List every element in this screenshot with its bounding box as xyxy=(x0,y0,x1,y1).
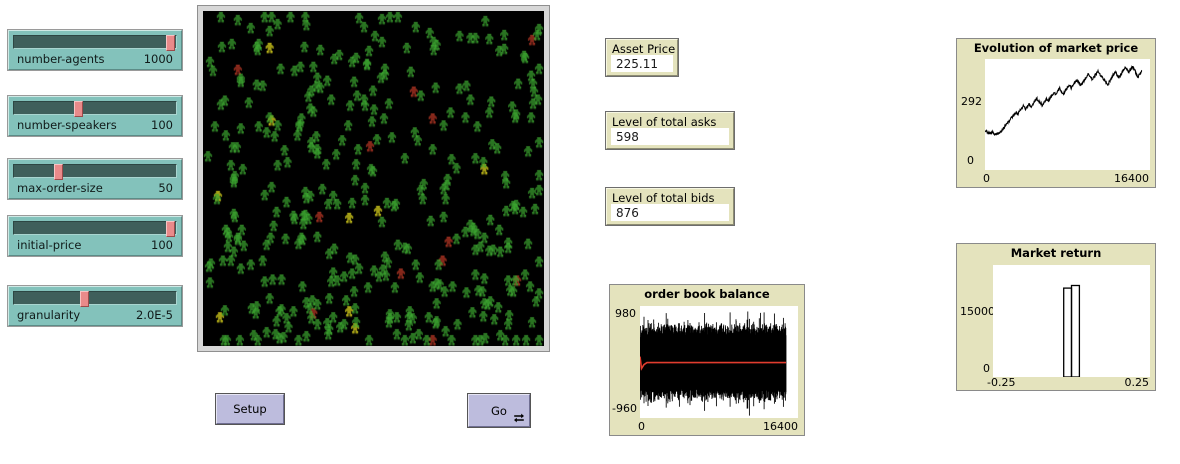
evolution-of-market-price-plot: Evolution of market price 292 0 0 16400 xyxy=(956,38,1156,188)
slider-thumb[interactable] xyxy=(54,164,63,180)
monitor-value-box: 225.11 xyxy=(611,55,673,72)
slider-value: 2.0E-5 xyxy=(136,308,173,322)
x-axis-min-label: 0 xyxy=(983,172,990,185)
slider-granularity[interactable]: granularity 2.0E-5 xyxy=(8,286,182,326)
monitor-label: Level of total asks xyxy=(612,115,716,129)
slider-label: initial-price xyxy=(17,238,81,252)
slider-track[interactable] xyxy=(13,101,177,115)
slider-max-order-size[interactable]: max-order-size 50 xyxy=(8,159,182,199)
forever-loop-icon xyxy=(513,412,525,424)
plot-title: Market return xyxy=(957,246,1155,260)
y-axis-min-label: 0 xyxy=(967,154,974,167)
y-axis-min-label: 0 xyxy=(983,362,990,375)
plot-title: order book balance xyxy=(610,287,804,301)
balance-line-chart xyxy=(640,306,798,418)
slider-thumb[interactable] xyxy=(74,101,83,117)
slider-initial-price[interactable]: initial-price 100 xyxy=(8,216,182,256)
plot-area xyxy=(640,306,798,418)
slider-value: 100 xyxy=(151,118,173,132)
x-axis-min-label: 0 xyxy=(638,420,645,433)
y-axis-max-label: 15000 xyxy=(960,305,995,318)
slider-track[interactable] xyxy=(13,221,177,235)
slider-label: max-order-size xyxy=(17,181,103,195)
slider-thumb[interactable] xyxy=(166,35,175,51)
total-asks-monitor: Level of total asks 598 xyxy=(606,112,734,149)
setup-button[interactable]: Setup xyxy=(216,394,284,424)
y-axis-max-label: 292 xyxy=(961,95,982,108)
slider-label: number-speakers xyxy=(17,118,117,132)
x-axis-max-label: 0.25 xyxy=(1125,376,1150,389)
order-book-balance-plot: order book balance 980 -960 0 16400 xyxy=(609,284,805,436)
y-axis-min-label: -960 xyxy=(612,402,637,415)
slider-number-agents[interactable]: number-agents 1000 xyxy=(8,30,182,70)
slider-track[interactable] xyxy=(13,164,177,178)
slider-thumb[interactable] xyxy=(166,221,175,237)
plot-area xyxy=(985,59,1150,170)
go-button[interactable]: Go xyxy=(468,394,530,427)
asset-price-monitor: Asset Price 225.11 xyxy=(606,39,678,76)
slider-value: 50 xyxy=(158,181,173,195)
slider-label: granularity xyxy=(17,308,80,322)
slider-track[interactable] xyxy=(13,291,177,305)
slider-value: 1000 xyxy=(144,52,173,66)
monitor-value: 225.11 xyxy=(616,57,658,71)
y-axis-max-label: 980 xyxy=(615,307,636,320)
monitor-label: Level of total bids xyxy=(612,191,715,205)
return-histogram xyxy=(993,265,1150,377)
slider-value: 100 xyxy=(151,238,173,252)
price-line-chart xyxy=(985,59,1150,170)
monitor-value-box: 876 xyxy=(611,204,729,221)
total-bids-monitor: Level of total bids 876 xyxy=(606,188,734,225)
world-view[interactable] xyxy=(197,5,550,352)
x-axis-max-label: 16400 xyxy=(763,420,798,433)
x-axis-min-label: -0.25 xyxy=(987,376,1015,389)
slider-number-speakers[interactable]: number-speakers 100 xyxy=(8,96,182,136)
setup-button-label: Setup xyxy=(217,402,283,416)
plot-area xyxy=(993,265,1150,377)
market-return-plot: Market return 15000 0 -0.25 0.25 xyxy=(956,243,1156,391)
slider-thumb[interactable] xyxy=(80,291,89,307)
monitor-value: 598 xyxy=(616,130,639,144)
x-axis-max-label: 16400 xyxy=(1114,172,1149,185)
monitor-value: 876 xyxy=(616,206,639,220)
slider-track[interactable] xyxy=(13,35,177,49)
world-canvas[interactable] xyxy=(203,11,544,346)
plot-title: Evolution of market price xyxy=(957,41,1155,55)
monitor-label: Asset Price xyxy=(612,42,675,56)
monitor-value-box: 598 xyxy=(611,128,729,145)
slider-label: number-agents xyxy=(17,52,105,66)
